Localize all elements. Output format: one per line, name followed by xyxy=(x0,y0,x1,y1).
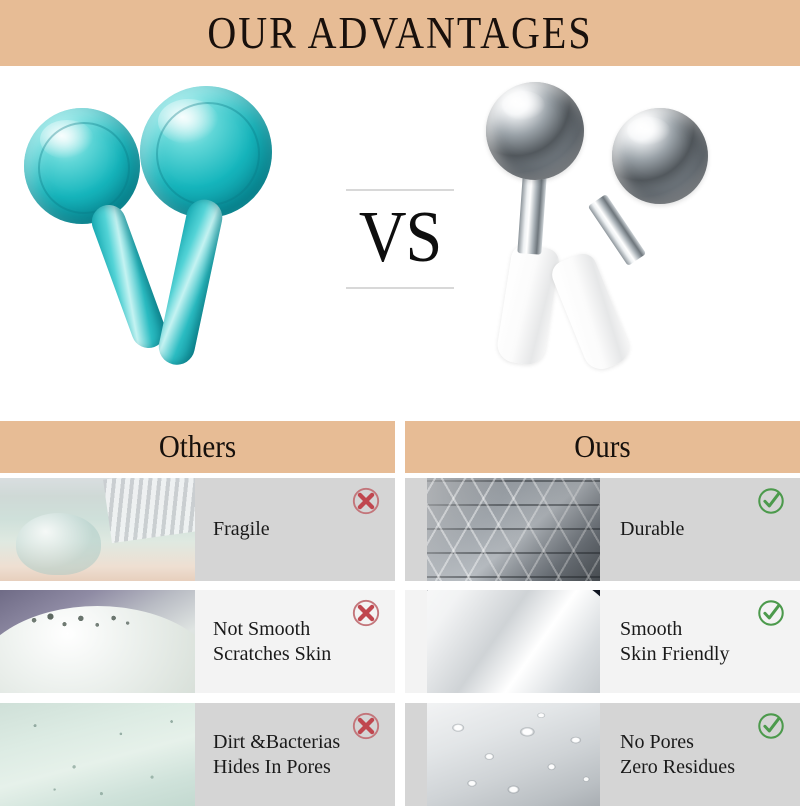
table-row: Dirt &Bacterias Hides In Pores xyxy=(0,703,395,806)
column-header-others-label: Others xyxy=(159,429,236,465)
vs-rule-bottom xyxy=(346,287,454,289)
white-handle-left xyxy=(495,243,561,367)
steel-rollers-art xyxy=(460,66,800,411)
table-row: Not Smooth Scratches Skin xyxy=(0,590,395,693)
table-row: Smooth Skin Friendly xyxy=(405,590,800,693)
row-thumbnail-smooth xyxy=(427,590,600,693)
red-x-circle-icon xyxy=(351,486,381,516)
green-check-circle-icon xyxy=(756,486,786,516)
row-label: Durable xyxy=(618,517,684,542)
row-label: Fragile xyxy=(213,517,270,542)
vs-rule-top xyxy=(346,189,454,191)
row-label: Not Smooth Scratches Skin xyxy=(213,617,331,667)
header-banner: OUR ADVANTAGES xyxy=(0,0,800,66)
row-text-pane: Durable xyxy=(600,478,800,581)
steel-neck-left xyxy=(517,175,546,254)
row-thumbnail-durable xyxy=(427,478,600,581)
row-label: Smooth Skin Friendly xyxy=(618,617,729,667)
row-thumbnail-fragile xyxy=(0,478,195,581)
row-text-pane: Fragile xyxy=(195,478,395,581)
teal-ball-right-ring xyxy=(156,102,260,206)
competitor-product-image xyxy=(0,66,340,411)
teal-handle-right xyxy=(155,196,225,368)
row-text-pane: Smooth Skin Friendly xyxy=(600,590,800,693)
row-text-pane: Dirt &Bacterias Hides In Pores xyxy=(195,703,395,806)
vs-divider: VS xyxy=(340,66,460,411)
green-check-circle-icon xyxy=(756,598,786,628)
red-x-circle-icon xyxy=(351,711,381,741)
chrome-ball-left xyxy=(486,82,584,180)
chrome-ball-right xyxy=(612,108,708,204)
vs-label: VS xyxy=(359,201,441,274)
row-thumbnail-not-smooth xyxy=(0,590,195,693)
table-row: Fragile xyxy=(0,478,395,581)
row-label: No Pores Zero Residues xyxy=(618,730,735,780)
row-text-pane: No Pores Zero Residues xyxy=(600,703,800,806)
table-row: No Pores Zero Residues xyxy=(405,703,800,806)
page-title: OUR ADVANTAGES xyxy=(207,10,592,56)
column-others: Others Fragile Not Smooth S xyxy=(0,411,395,800)
row-label: Dirt &Bacterias Hides In Pores xyxy=(213,730,340,780)
teal-handle-left xyxy=(87,200,170,353)
white-handle-right xyxy=(548,250,634,375)
column-ours: Ours Durable Smooth Skin Fr xyxy=(405,411,800,800)
row-thumbnail-dirt xyxy=(0,703,195,806)
teal-ball-left-ring xyxy=(38,122,130,214)
green-check-circle-icon xyxy=(756,711,786,741)
row-thumbnail-no-pores xyxy=(427,703,600,806)
our-product-image xyxy=(460,66,800,411)
red-x-circle-icon xyxy=(351,598,381,628)
table-row: Durable xyxy=(405,478,800,581)
column-header-ours: Ours xyxy=(405,421,800,473)
advantages-infographic: OUR ADVANTAGES xyxy=(0,0,800,800)
teal-ice-globes-art xyxy=(0,66,340,411)
column-header-others: Others xyxy=(0,421,395,473)
comparison-table: Others Fragile Not Smooth S xyxy=(0,411,800,800)
row-text-pane: Not Smooth Scratches Skin xyxy=(195,590,395,693)
steel-neck-right xyxy=(588,194,647,266)
column-header-ours-label: Ours xyxy=(574,429,630,465)
